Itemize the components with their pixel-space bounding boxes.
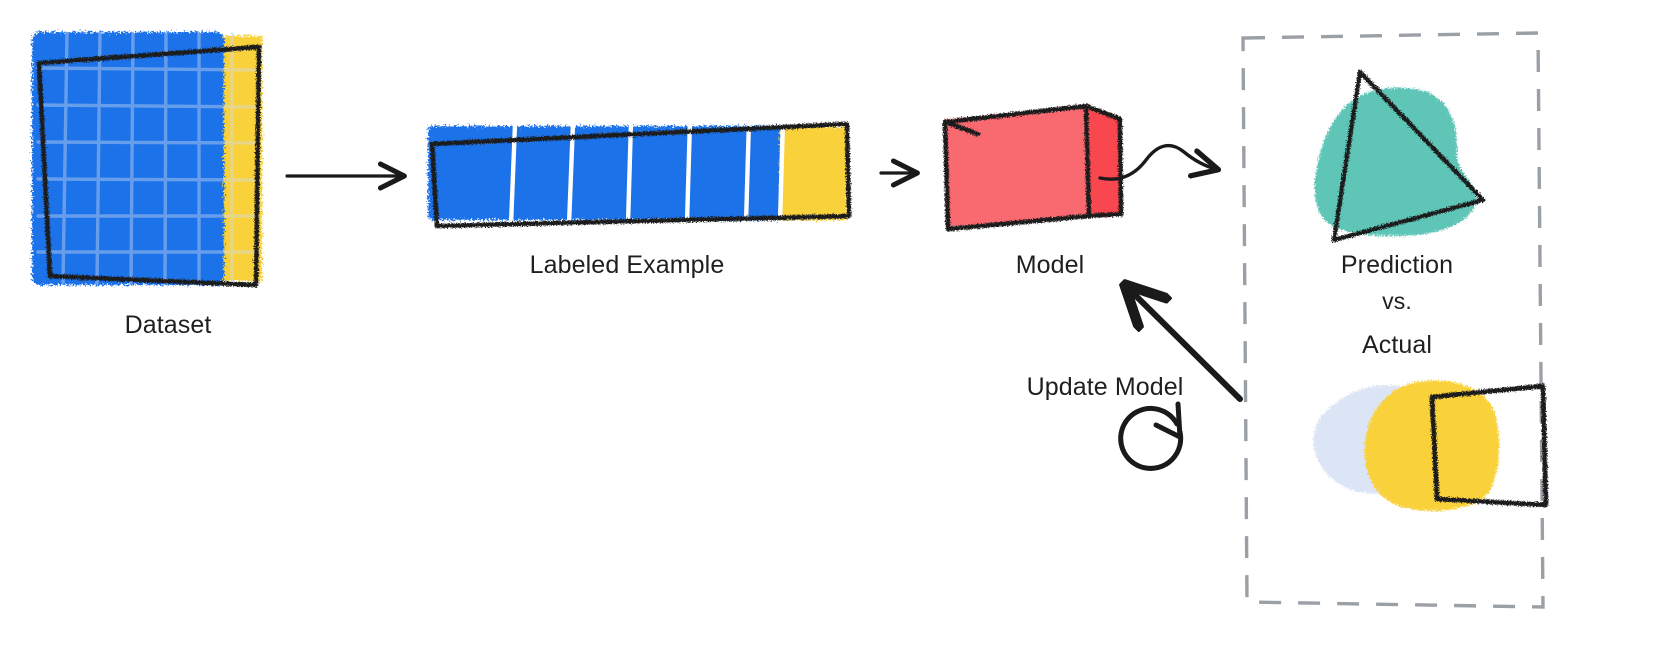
label-dataset: Dataset: [68, 310, 268, 340]
node-labeled-example[interactable]: [428, 119, 849, 226]
label-update-model: Update Model: [1000, 372, 1210, 402]
labeled-example-yellow-cell: [775, 127, 847, 220]
label-prediction: Prediction: [1297, 250, 1497, 280]
label-versus: vs.: [1327, 288, 1467, 316]
node-dataset[interactable]: [32, 32, 262, 285]
model-side-face-fill: [1088, 106, 1122, 216]
node-actual[interactable]: [1313, 380, 1546, 510]
model-front-face-fill: [945, 106, 1090, 228]
label-model: Model: [955, 250, 1145, 280]
node-model[interactable]: [945, 106, 1122, 229]
diagram-canvas: Dataset Labeled Example Model Update Mod…: [0, 0, 1660, 668]
refresh-circle-icon: [1121, 404, 1181, 468]
node-prediction[interactable]: [1315, 72, 1483, 240]
label-actual: Actual: [1307, 330, 1487, 360]
label-labeled-example: Labeled Example: [497, 250, 757, 280]
